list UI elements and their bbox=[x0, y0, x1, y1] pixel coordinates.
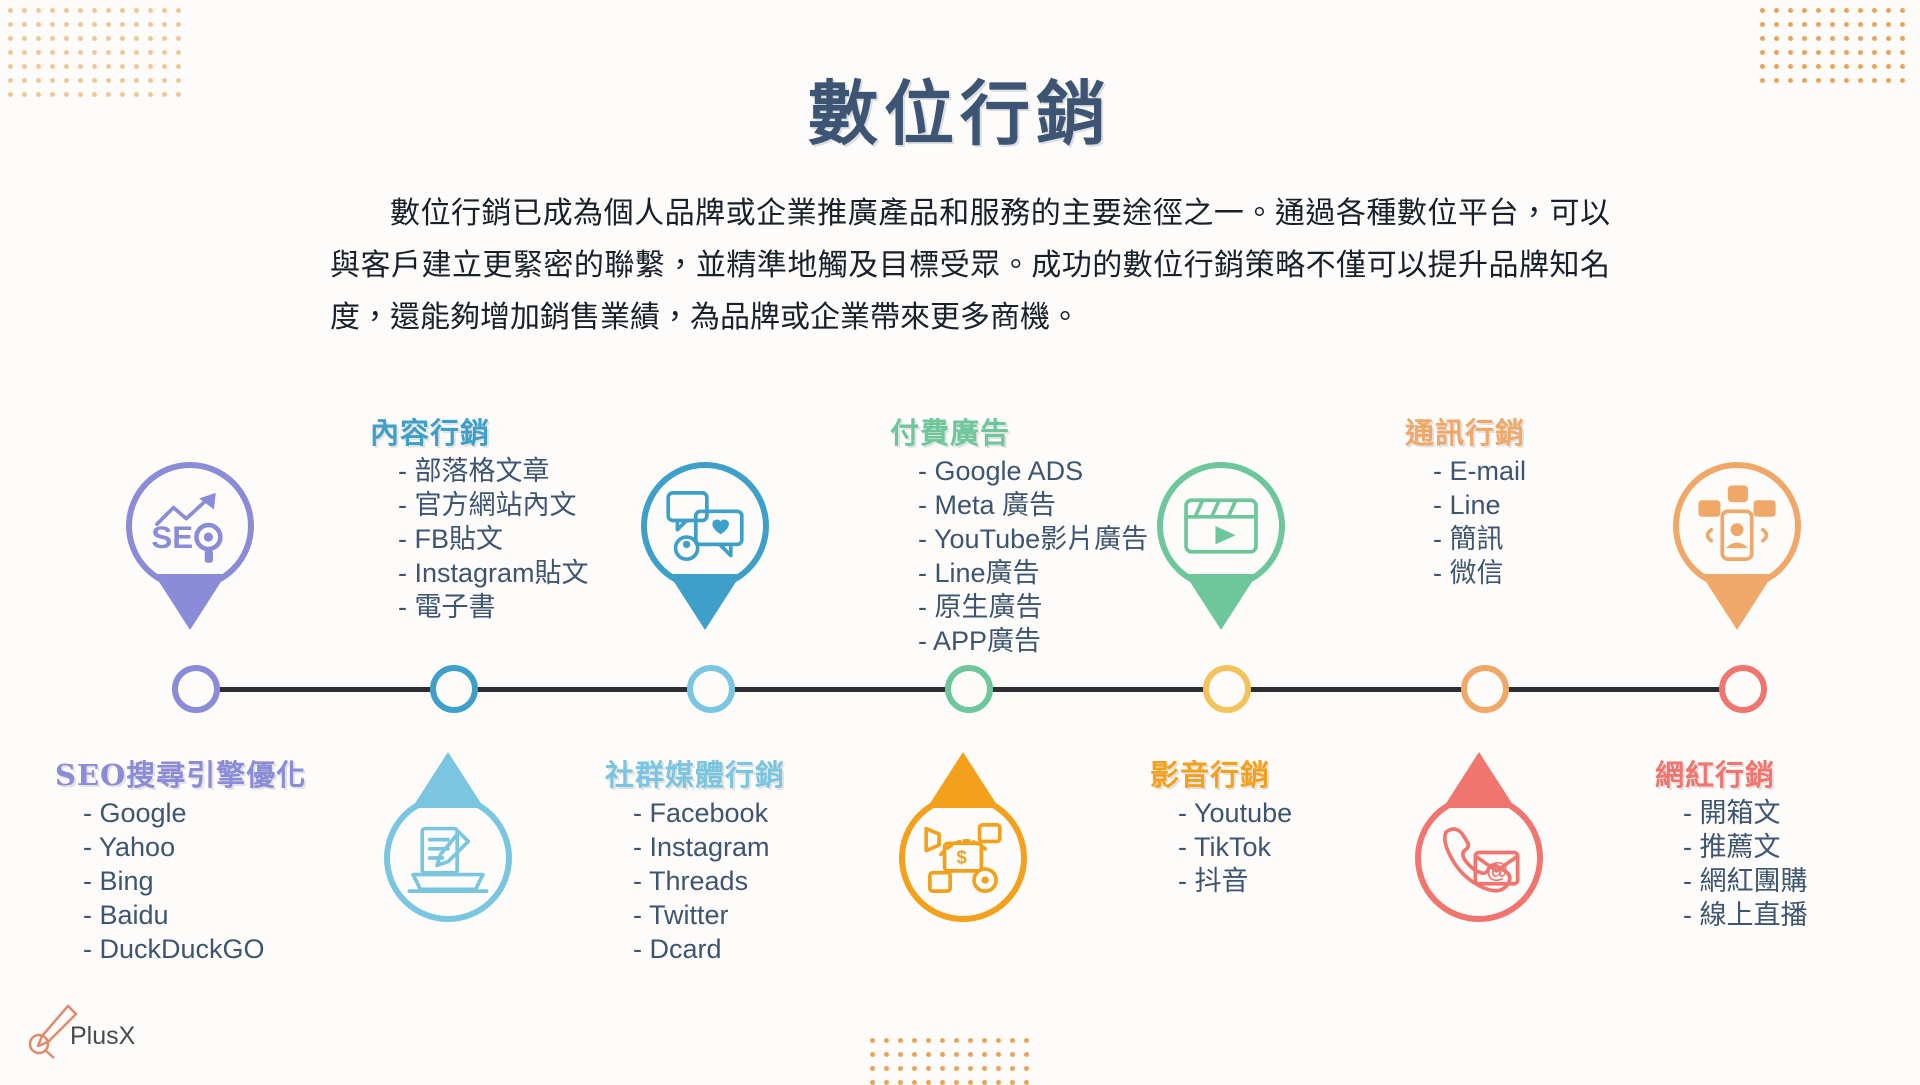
section-heading-social-media-marketing: 社群媒體行銷 bbox=[605, 752, 785, 794]
list-item: TikTok bbox=[1178, 830, 1292, 864]
section-heading-messaging-marketing: 通訊行銷 bbox=[1405, 410, 1526, 452]
list-item: Instagram bbox=[633, 830, 785, 864]
list-item: Twitter bbox=[633, 898, 785, 932]
section-heading-influencer-marketing: 網紅行銷 bbox=[1655, 752, 1808, 794]
marker-video-marketing[interactable]: $ bbox=[899, 752, 1039, 922]
marker-seo[interactable]: SE bbox=[126, 462, 266, 632]
section-content-marketing: 內容行銷部落格文章官方網站內文FB貼文Instagram貼文電子書 bbox=[370, 410, 589, 624]
list-item: Meta 廣告 bbox=[918, 488, 1148, 522]
marker-circle-influencer-marketing: @ bbox=[1415, 794, 1543, 922]
section-heading-seo: SEO搜尋引擎優化 bbox=[55, 752, 306, 794]
timeline-node-3[interactable] bbox=[687, 665, 735, 713]
list-item: 簡訊 bbox=[1433, 522, 1526, 556]
section-list-seo: GoogleYahooBingBaiduDuckDuckGO bbox=[55, 796, 306, 966]
section-messaging-marketing: 通訊行銷E-mailLine簡訊微信 bbox=[1405, 410, 1526, 590]
list-item: 原生廣告 bbox=[918, 590, 1148, 624]
list-item: Threads bbox=[633, 864, 785, 898]
list-item: Line bbox=[1433, 488, 1526, 522]
section-heading-video-marketing: 影音行銷 bbox=[1150, 752, 1292, 794]
section-list-content-marketing: 部落格文章官方網站內文FB貼文Instagram貼文電子書 bbox=[370, 454, 589, 624]
laptop-document-pen-icon bbox=[402, 812, 494, 904]
phone-speech-bubbles-icon bbox=[1691, 480, 1783, 572]
marker-circle-social-media-marketing bbox=[384, 794, 512, 922]
list-item: 官方網站內文 bbox=[398, 488, 589, 522]
list-item: 線上直播 bbox=[1683, 898, 1808, 932]
section-video-marketing: 影音行銷YoutubeTikTok抖音 bbox=[1150, 752, 1292, 898]
section-list-messaging-marketing: E-mailLine簡訊微信 bbox=[1405, 454, 1526, 590]
list-item: 網紅團購 bbox=[1683, 864, 1808, 898]
marker-social-media-marketing[interactable] bbox=[384, 752, 524, 922]
infographic-canvas: 數位行銷 數位行銷已成為個人品牌或企業推廣產品和服務的主要途徑之一。通過各種數位… bbox=[0, 0, 1920, 1080]
phone-at-envelope-icon: @ bbox=[1433, 812, 1525, 904]
marker-circle-messaging-marketing bbox=[1673, 462, 1801, 590]
marker-circle-seo: SE bbox=[126, 462, 254, 590]
megaphone-screen-ads-icon: $ bbox=[917, 812, 1009, 904]
list-item: 抖音 bbox=[1178, 864, 1292, 898]
section-paid-ads: 付費廣告Google ADSMeta 廣告YouTube影片廣告Line廣告原生… bbox=[890, 410, 1148, 658]
page-title: 數位行銷 bbox=[0, 58, 1920, 159]
list-item: DuckDuckGO bbox=[83, 932, 306, 966]
marker-tip-paid-ads bbox=[1185, 574, 1257, 630]
marker-influencer-marketing[interactable]: @ bbox=[1415, 752, 1555, 922]
list-item: 部落格文章 bbox=[398, 454, 589, 488]
video-player-clapper-icon bbox=[1175, 480, 1267, 572]
marker-tip-content-marketing bbox=[669, 574, 741, 630]
section-influencer-marketing: 網紅行銷開箱文推薦文網紅團購線上直播 bbox=[1655, 752, 1808, 932]
marker-tip-messaging-marketing bbox=[1701, 574, 1773, 630]
marker-tip-video-marketing bbox=[927, 752, 999, 808]
timeline-node-1[interactable] bbox=[172, 665, 220, 713]
list-item: Facebook bbox=[633, 796, 785, 830]
list-item: Dcard bbox=[633, 932, 785, 966]
seo-growth-magnifier-icon: SE bbox=[144, 480, 236, 572]
section-list-social-media-marketing: FacebookInstagramThreadsTwitterDcard bbox=[605, 796, 785, 966]
section-seo: SEO搜尋引擎優化GoogleYahooBingBaiduDuckDuckGO bbox=[55, 752, 306, 966]
list-item: YouTube影片廣告 bbox=[918, 522, 1148, 556]
section-social-media-marketing: 社群媒體行銷FacebookInstagramThreadsTwitterDca… bbox=[605, 752, 785, 966]
svg-text:$: $ bbox=[957, 847, 967, 868]
timeline-node-5[interactable] bbox=[1203, 665, 1251, 713]
list-item: FB貼文 bbox=[398, 522, 589, 556]
section-heading-paid-ads: 付費廣告 bbox=[890, 410, 1148, 452]
marker-tip-seo bbox=[154, 574, 226, 630]
list-item: Google ADS bbox=[918, 454, 1148, 488]
marker-circle-paid-ads bbox=[1157, 462, 1285, 590]
plusx-logo: PlusX bbox=[24, 1000, 164, 1062]
list-item: 電子書 bbox=[398, 590, 589, 624]
list-item: Instagram貼文 bbox=[398, 556, 589, 590]
chat-bubbles-heart-icon bbox=[659, 480, 751, 572]
logo-wordmark: PlusX bbox=[70, 1022, 135, 1051]
list-item: Bing bbox=[83, 864, 306, 898]
marker-circle-video-marketing: $ bbox=[899, 794, 1027, 922]
list-item: Google bbox=[83, 796, 306, 830]
list-item: E-mail bbox=[1433, 454, 1526, 488]
list-item: APP廣告 bbox=[918, 624, 1148, 658]
timeline-node-6[interactable] bbox=[1461, 665, 1509, 713]
timeline-node-2[interactable] bbox=[430, 665, 478, 713]
marker-content-marketing[interactable] bbox=[641, 462, 781, 632]
section-heading-content-marketing: 內容行銷 bbox=[370, 410, 589, 452]
list-item: Youtube bbox=[1178, 796, 1292, 830]
section-list-influencer-marketing: 開箱文推薦文網紅團購線上直播 bbox=[1655, 796, 1808, 932]
timeline-node-7[interactable] bbox=[1719, 665, 1767, 713]
list-item: Line廣告 bbox=[918, 556, 1148, 590]
marker-tip-social-media-marketing bbox=[412, 752, 484, 808]
svg-text:@: @ bbox=[1486, 858, 1508, 883]
list-item: Baidu bbox=[83, 898, 306, 932]
marker-circle-content-marketing bbox=[641, 462, 769, 590]
marker-tip-influencer-marketing bbox=[1443, 752, 1515, 808]
marker-paid-ads[interactable] bbox=[1157, 462, 1297, 632]
list-item: Yahoo bbox=[83, 830, 306, 864]
intro-paragraph: 數位行銷已成為個人品牌或企業推廣產品和服務的主要途徑之一。通過各種數位平台，可以… bbox=[330, 188, 1610, 344]
section-list-video-marketing: YoutubeTikTok抖音 bbox=[1150, 796, 1292, 898]
list-item: 微信 bbox=[1433, 556, 1526, 590]
svg-text:SE: SE bbox=[151, 520, 193, 555]
timeline-node-4[interactable] bbox=[945, 665, 993, 713]
marker-messaging-marketing[interactable] bbox=[1673, 462, 1813, 632]
list-item: 開箱文 bbox=[1683, 796, 1808, 830]
list-item: 推薦文 bbox=[1683, 830, 1808, 864]
section-list-paid-ads: Google ADSMeta 廣告YouTube影片廣告Line廣告原生廣告AP… bbox=[890, 454, 1148, 658]
